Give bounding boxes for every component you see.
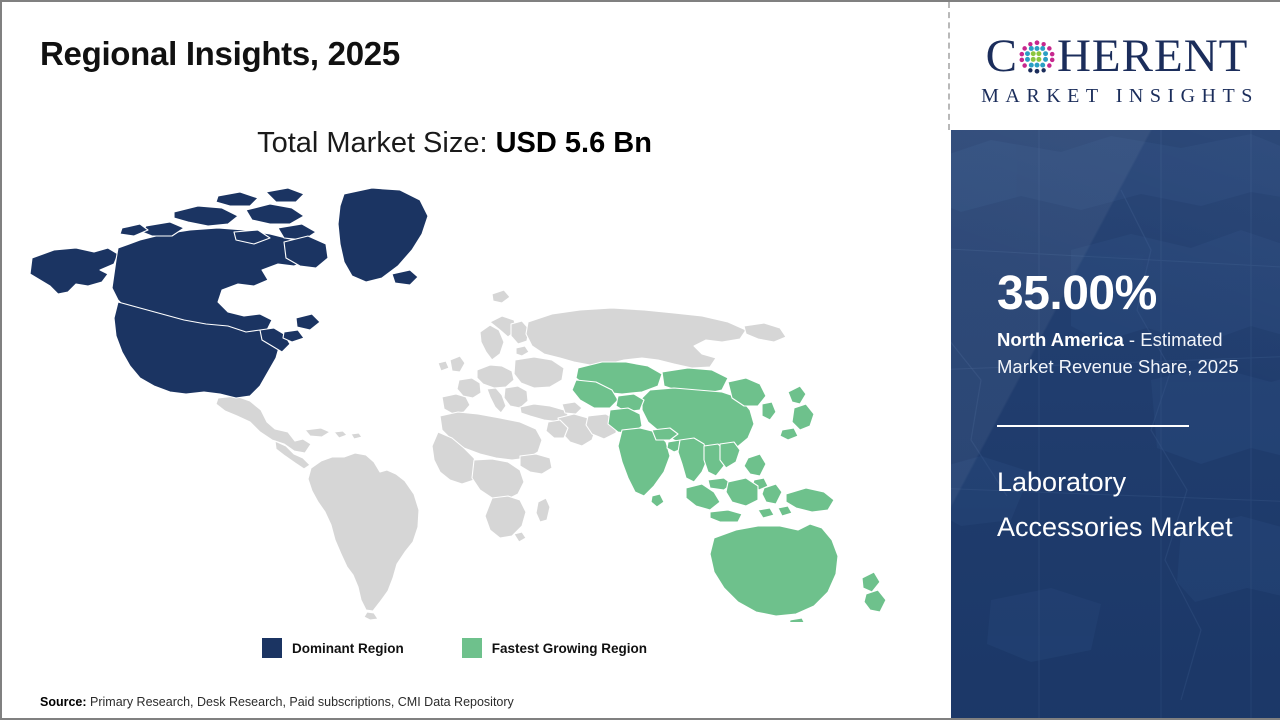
source-label: Source:	[40, 695, 87, 709]
panel-content: 35.00% North America - Estimated Market …	[997, 130, 1257, 718]
market-size-value: USD 5.6 Bn	[496, 127, 652, 159]
brand-logo: C	[954, 2, 1280, 130]
stat-region-name: North America	[997, 329, 1124, 350]
highlight-panel: 35.00% North America - Estimated Market …	[951, 130, 1280, 718]
slide-canvas: Regional Insights, 2025 Total Market Siz…	[0, 0, 1280, 720]
map-region-north-america	[30, 188, 428, 398]
left-content-pane: Regional Insights, 2025 Total Market Siz…	[2, 2, 950, 718]
panel-divider-rule	[997, 425, 1189, 427]
map-region-asia-pacific	[572, 362, 886, 622]
legend-swatch-fastest-growing-icon	[462, 638, 482, 658]
legend-label-fastest-growing: Fastest Growing Region	[492, 641, 647, 656]
logo-tagline: MARKET INSIGHTS	[975, 85, 1259, 108]
legend-label-dominant: Dominant Region	[292, 641, 404, 656]
market-name: Laboratory Accessories Market	[997, 460, 1259, 550]
world-map	[22, 182, 912, 622]
legend-swatch-dominant-icon	[262, 638, 282, 658]
page-title: Regional Insights, 2025	[40, 35, 400, 73]
logo-letter-c: C	[986, 33, 1018, 80]
market-size-label: Total Market Size:	[257, 127, 487, 159]
stat-percentage: 35.00%	[997, 270, 1157, 318]
legend-item-dominant: Dominant Region	[262, 638, 404, 658]
logo-wordmark: C	[986, 31, 1249, 83]
vertical-dashed-divider	[948, 2, 950, 130]
source-note: Source: Primary Research, Desk Research,…	[40, 695, 514, 709]
source-text: Primary Research, Desk Research, Paid su…	[90, 695, 514, 709]
stat-description: North America - Estimated Market Revenue…	[997, 326, 1265, 381]
map-legend: Dominant Region Fastest Growing Region	[2, 638, 907, 658]
legend-item-fastest-growing: Fastest Growing Region	[462, 638, 647, 658]
logo-word-coherent: HERENT	[1057, 33, 1248, 80]
world-map-svg	[22, 182, 912, 622]
dotted-globe-icon	[1018, 38, 1056, 76]
total-market-size: Total Market Size: USD 5.6 Bn	[2, 127, 907, 160]
